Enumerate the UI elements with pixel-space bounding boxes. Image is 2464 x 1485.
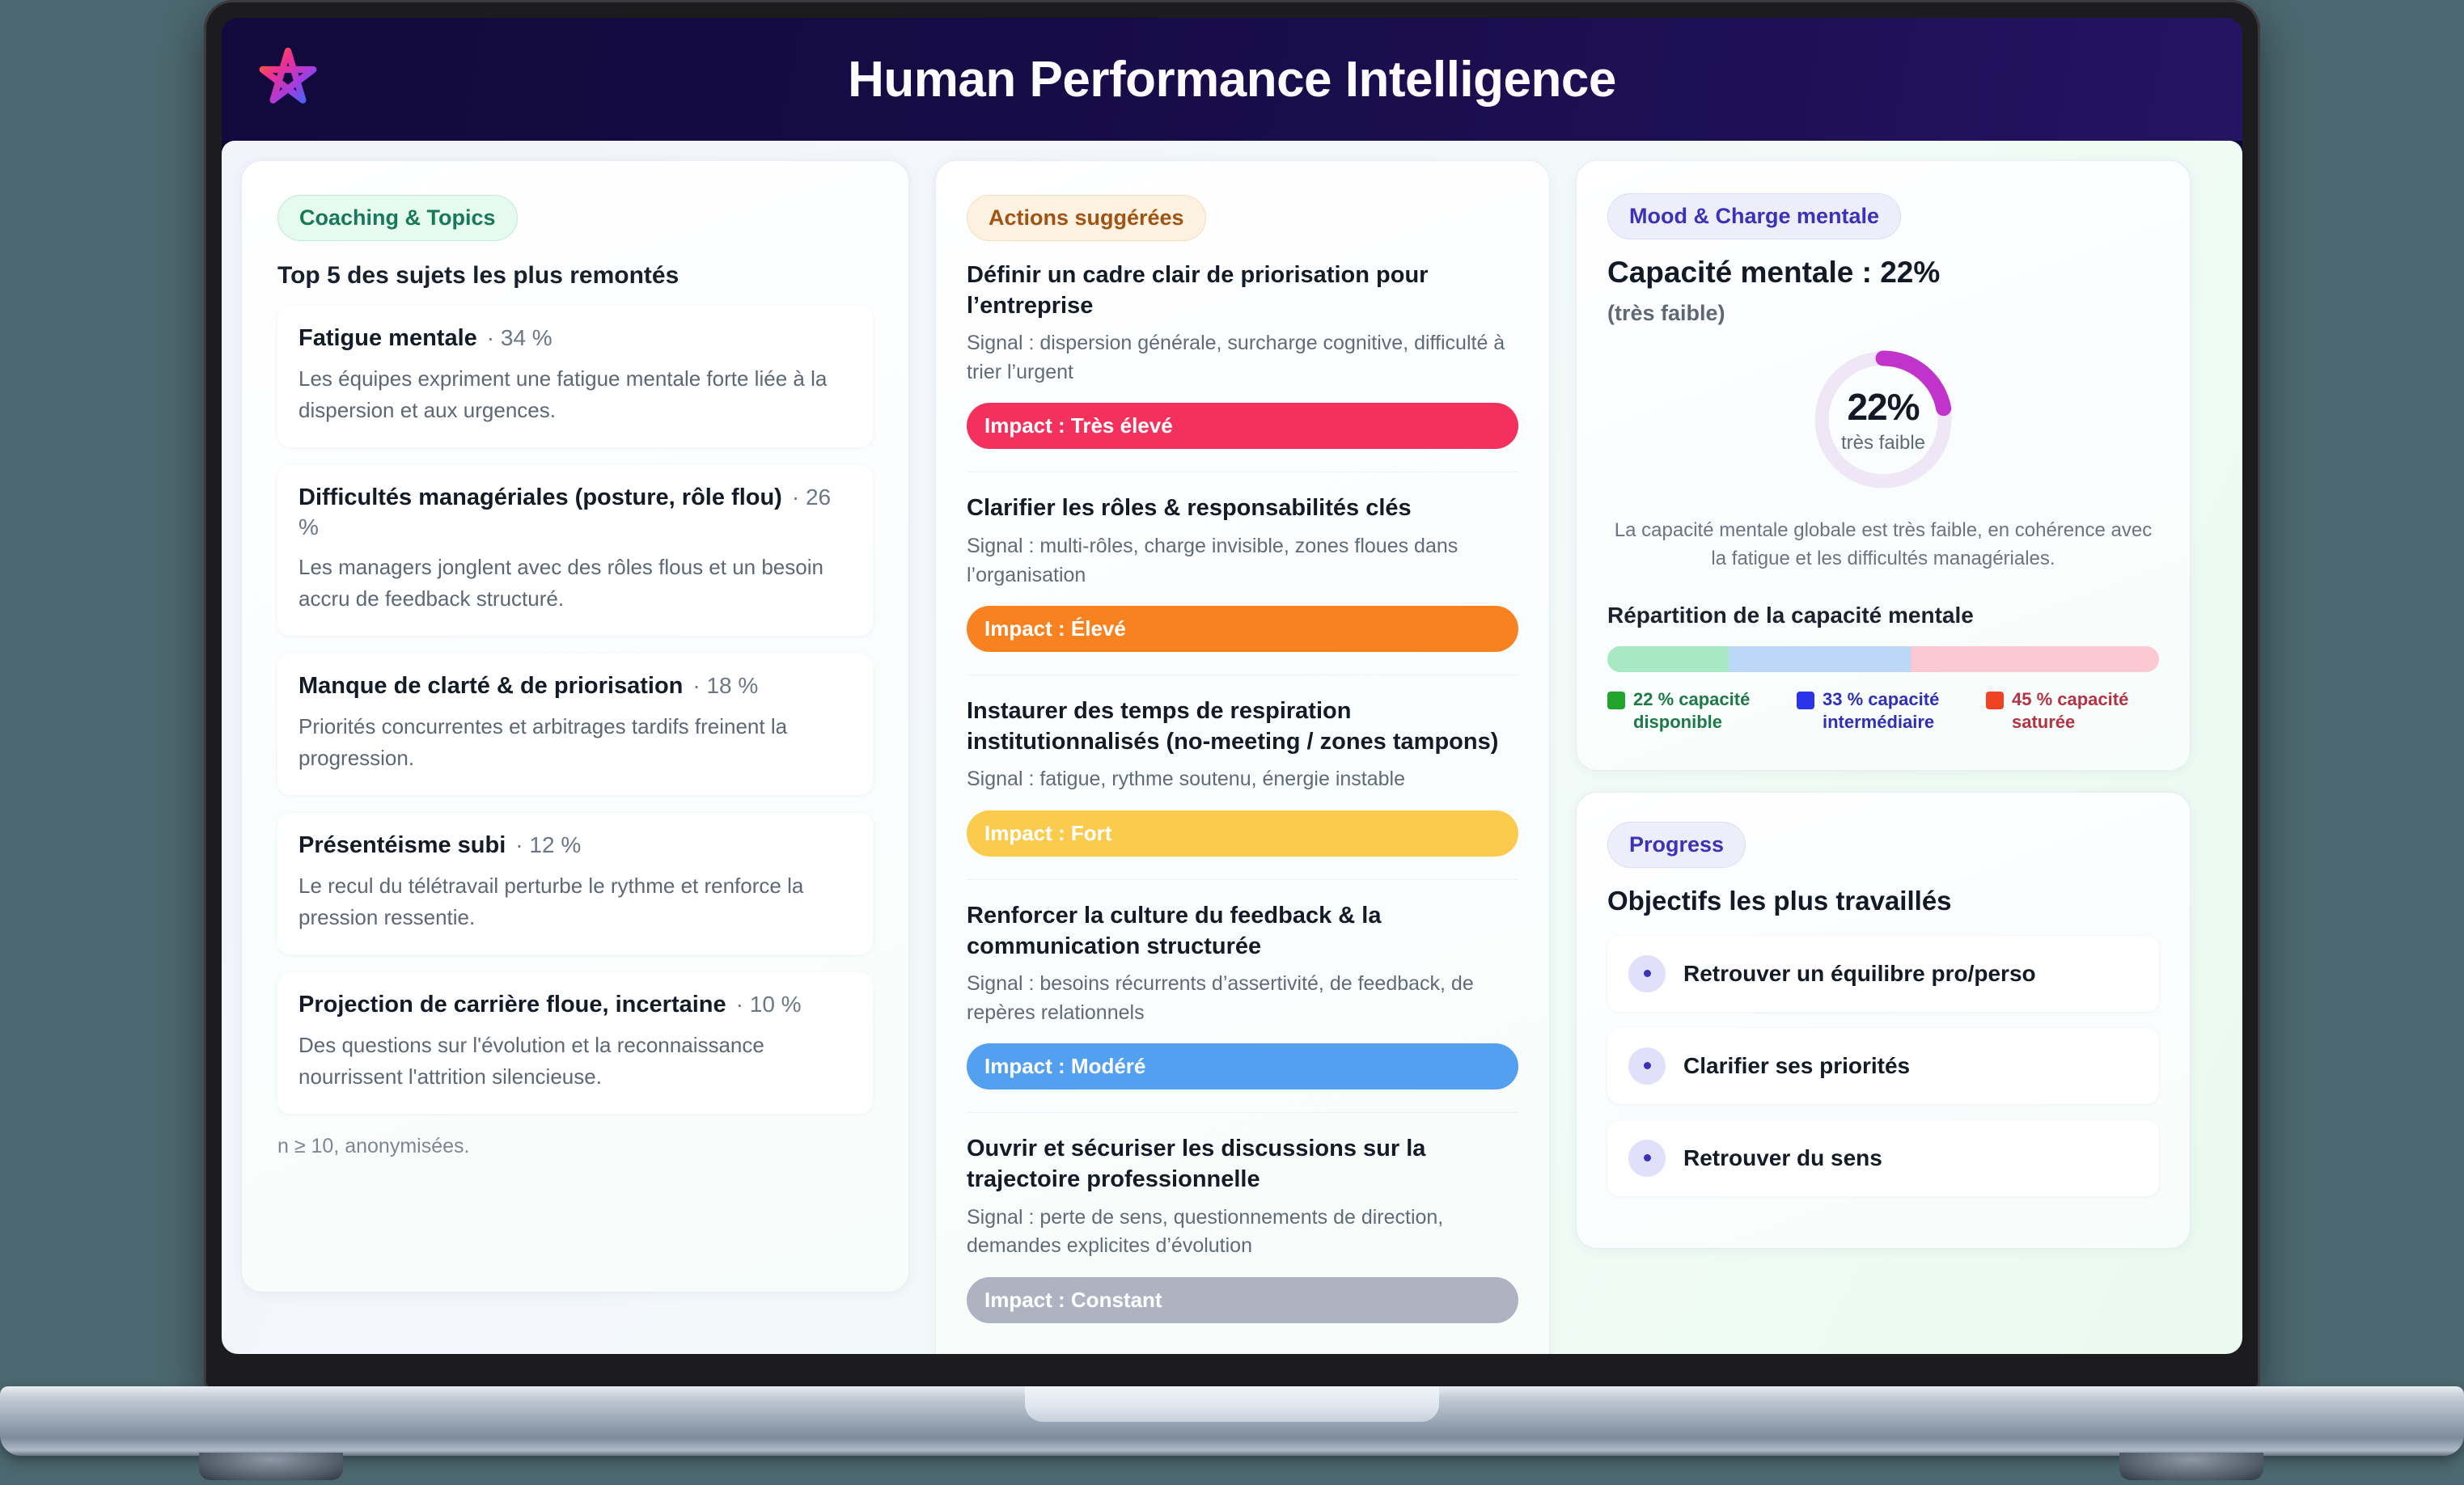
gauge-label: très faible bbox=[1841, 432, 1925, 455]
action-title: Définir un cadre clair de priorisation p… bbox=[967, 260, 1518, 321]
mental-capacity-donut-chart: 22% très faible bbox=[1807, 344, 1959, 496]
topic-percentage: · 10 % bbox=[736, 992, 802, 1017]
gauge-wrap: 22% très faible bbox=[1607, 344, 2159, 496]
dashboard-canvas: Coaching & Topics Top 5 des sujets les p… bbox=[222, 141, 2242, 1354]
legend-swatch-icon bbox=[1607, 692, 1625, 709]
action-item[interactable]: Ouvrir et sécuriser les discussions sur … bbox=[967, 1112, 1518, 1345]
topics-section-title: Top 5 des sujets les plus remontés bbox=[277, 262, 873, 290]
topic-percentage: · 34 % bbox=[487, 325, 552, 350]
laptop-foot-right bbox=[2119, 1453, 2263, 1480]
legend-pct: 45 % capacité bbox=[2012, 689, 2128, 709]
legend-item: 33 % capacitéintermédiaire bbox=[1797, 688, 1970, 734]
action-signal: Signal : fatigue, rythme soutenu, énergi… bbox=[967, 765, 1518, 794]
topic-head: Projection de carrière floue, incertaine… bbox=[298, 990, 852, 1020]
action-signal: Signal : multi-rôles, charge invisible, … bbox=[967, 532, 1518, 590]
topics-footnote: n ≥ 10, anonymisées. bbox=[277, 1135, 873, 1158]
impact-badge: Impact : Constant bbox=[967, 1277, 1518, 1323]
impact-badge: Impact : Élevé bbox=[967, 606, 1518, 652]
action-title: Instaurer des temps de respiration insti… bbox=[967, 696, 1518, 757]
topic-description: Le recul du télétravail perturbe le ryth… bbox=[298, 870, 852, 933]
topic-card[interactable]: Projection de carrière floue, incertaine… bbox=[277, 972, 873, 1114]
action-signal: Signal : besoins récurrents d’assertivit… bbox=[967, 970, 1518, 1027]
topic-list: Fatigue mentale· 34 %Les équipes exprime… bbox=[277, 306, 873, 1114]
topic-head: Fatigue mentale· 34 % bbox=[298, 324, 852, 353]
action-item[interactable]: Instaurer des temps de respiration insti… bbox=[967, 675, 1518, 879]
topic-description: Les managers jonglent avec des rôles flo… bbox=[298, 552, 852, 615]
distribution-title: Répartition de la capacité mentale bbox=[1607, 603, 2159, 628]
action-signal: Signal : dispersion générale, surcharge … bbox=[967, 329, 1518, 387]
action-item[interactable]: Renforcer la culture du feedback & la co… bbox=[967, 879, 1518, 1112]
goal-row[interactable]: Retrouver du sens bbox=[1607, 1120, 2159, 1196]
mood-pill: Mood & Charge mentale bbox=[1607, 193, 1901, 239]
progress-pill: Progress bbox=[1607, 822, 1746, 868]
topic-card[interactable]: Difficultés managériales (posture, rôle … bbox=[277, 465, 873, 636]
topic-name: Difficultés managériales (posture, rôle … bbox=[298, 484, 782, 510]
topic-percentage: · 18 % bbox=[692, 673, 758, 698]
app-header: Human Performance Intelligence bbox=[222, 18, 2242, 141]
coaching-topics-panel: Coaching & Topics Top 5 des sujets les p… bbox=[241, 160, 909, 1292]
topic-name: Projection de carrière floue, incertaine bbox=[298, 992, 726, 1017]
goal-list: Retrouver un équilibre pro/persoClarifie… bbox=[1607, 936, 2159, 1196]
legend-pct: 22 % capacité bbox=[1633, 689, 1750, 709]
impact-badge: Impact : Très élevé bbox=[967, 403, 1518, 449]
capacity-distribution-bar bbox=[1607, 646, 2159, 672]
topic-name: Manque de clarté & de priorisation bbox=[298, 673, 683, 699]
capacity-segment bbox=[1729, 646, 1911, 672]
legend-swatch-icon bbox=[1986, 692, 2004, 709]
topic-name: Présentéisme subi bbox=[298, 832, 506, 858]
goals-title: Objectifs les plus travaillés bbox=[1607, 886, 2159, 916]
action-title: Clarifier les rôles & responsabilités cl… bbox=[967, 493, 1518, 524]
legend-item: 45 % capacitésaturée bbox=[1986, 688, 2159, 734]
topic-card[interactable]: Manque de clarté & de priorisation· 18 %… bbox=[277, 654, 873, 795]
gauge-center: 22% très faible bbox=[1807, 344, 1959, 496]
topic-description: Des questions sur l'évolution et la reco… bbox=[298, 1030, 852, 1093]
legend-item: 22 % capacitédisponible bbox=[1607, 688, 1780, 734]
topic-percentage: · 12 % bbox=[515, 832, 581, 857]
topic-name: Fatigue mentale bbox=[298, 325, 477, 351]
laptop-frame: Human Performance Intelligence Coaching … bbox=[204, 0, 2260, 1390]
actions-pill: Actions suggérées bbox=[967, 195, 1206, 241]
capacity-legend: 22 % capacitédisponible33 % capacitéinte… bbox=[1607, 688, 2159, 734]
laptop-base-notch bbox=[1025, 1386, 1439, 1422]
goal-label: Clarifier ses priorités bbox=[1683, 1053, 1910, 1079]
bullet-dot-icon bbox=[1628, 1047, 1666, 1085]
goal-row[interactable]: Clarifier ses priorités bbox=[1607, 1028, 2159, 1104]
goal-row[interactable]: Retrouver un équilibre pro/perso bbox=[1607, 936, 2159, 1012]
legend-text: 33 % capacitéintermédiaire bbox=[1823, 688, 1939, 734]
topic-head: Manque de clarté & de priorisation· 18 % bbox=[298, 671, 852, 701]
laptop-screen: Human Performance Intelligence Coaching … bbox=[222, 18, 2242, 1354]
bullet-dot-icon bbox=[1628, 1140, 1666, 1177]
progress-panel: Progress Objectifs les plus travaillés R… bbox=[1576, 792, 2191, 1249]
suggested-actions-panel: Actions suggérées Définir un cadre clair… bbox=[935, 160, 1550, 1354]
action-list: Définir un cadre clair de priorisation p… bbox=[967, 260, 1518, 1346]
capacity-segment bbox=[1607, 646, 1729, 672]
mood-panel: Mood & Charge mentale Capacité mentale :… bbox=[1576, 160, 2191, 771]
gauge-value: 22% bbox=[1847, 385, 1919, 429]
coaching-pill: Coaching & Topics bbox=[277, 195, 518, 241]
legend-text: 22 % capacitédisponible bbox=[1633, 688, 1750, 734]
legend-pct: 33 % capacité bbox=[1823, 689, 1939, 709]
topic-card[interactable]: Présentéisme subi· 12 %Le recul du télét… bbox=[277, 813, 873, 954]
star-outline-gradient-icon bbox=[251, 42, 325, 116]
goal-label: Retrouver du sens bbox=[1683, 1145, 1882, 1171]
action-item[interactable]: Clarifier les rôles & responsabilités cl… bbox=[967, 472, 1518, 675]
action-item[interactable]: Définir un cadre clair de priorisation p… bbox=[967, 260, 1518, 472]
action-title: Renforcer la culture du feedback & la co… bbox=[967, 901, 1518, 962]
mental-capacity-subtitle: (très faible) bbox=[1607, 301, 2159, 326]
page-title: Human Performance Intelligence bbox=[222, 51, 2242, 108]
impact-badge: Impact : Fort bbox=[967, 810, 1518, 857]
topic-head: Présentéisme subi· 12 % bbox=[298, 831, 852, 861]
legend-label: intermédiaire bbox=[1823, 712, 1934, 732]
topic-card[interactable]: Fatigue mentale· 34 %Les équipes exprime… bbox=[277, 306, 873, 447]
right-column: Mood & Charge mentale Capacité mentale :… bbox=[1576, 160, 2191, 1249]
goal-label: Retrouver un équilibre pro/perso bbox=[1683, 961, 2036, 987]
legend-label: saturée bbox=[2012, 712, 2075, 732]
bullet-dot-icon bbox=[1628, 955, 1666, 992]
legend-text: 45 % capacitésaturée bbox=[2012, 688, 2128, 734]
mood-note: La capacité mentale globale est très fai… bbox=[1607, 517, 2159, 573]
mental-capacity-headline: Capacité mentale : 22% bbox=[1607, 256, 2159, 290]
legend-swatch-icon bbox=[1797, 692, 1814, 709]
topic-description: Priorités concurrentes et arbitrages tar… bbox=[298, 711, 852, 774]
impact-badge: Impact : Modéré bbox=[967, 1043, 1518, 1089]
capacity-segment bbox=[1911, 646, 2159, 672]
legend-label: disponible bbox=[1633, 712, 1722, 732]
topic-head: Difficultés managériales (posture, rôle … bbox=[298, 483, 852, 542]
laptop-foot-left bbox=[199, 1453, 343, 1480]
action-signal: Signal : perte de sens, questionnements … bbox=[967, 1204, 1518, 1261]
topic-description: Les équipes expriment une fatigue mental… bbox=[298, 363, 852, 426]
action-title: Ouvrir et sécuriser les discussions sur … bbox=[967, 1134, 1518, 1195]
